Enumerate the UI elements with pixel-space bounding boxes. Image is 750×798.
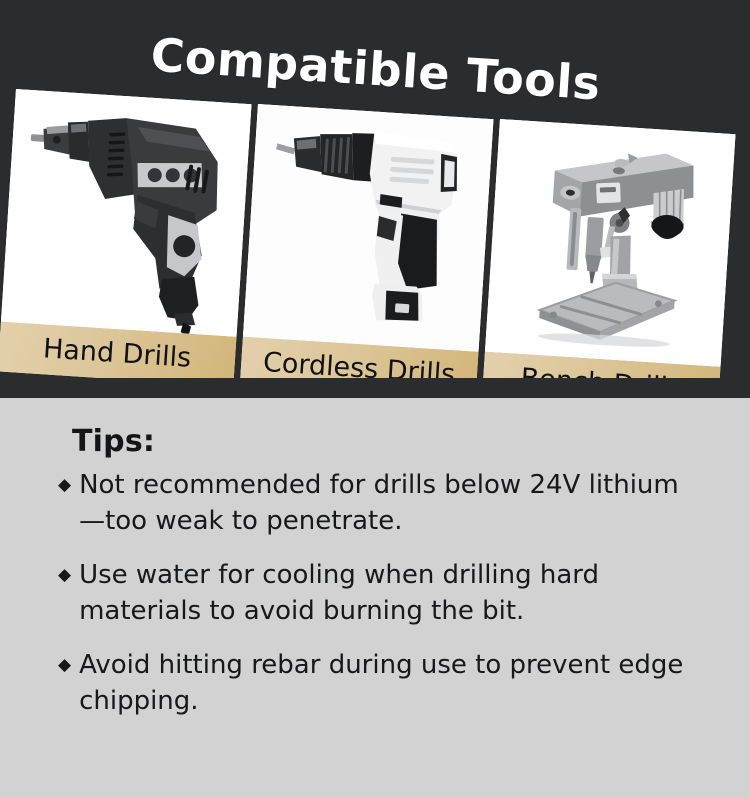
list-item: ◆ Avoid hitting rebar during use to prev…	[72, 647, 698, 719]
tips-heading: Tips:	[72, 424, 698, 459]
tool-card[interactable]: Cordless Drills	[240, 104, 494, 402]
compatible-tools-infographic: Compatible Tools	[0, 0, 750, 798]
tool-card-row: Hand Drills	[0, 0, 750, 398]
list-item: ◆ Not recommended for drills below 24V l…	[72, 467, 698, 539]
tip-text: Avoid hitting rebar during use to preven…	[79, 647, 689, 719]
tool-card[interactable]: Hand Drills	[0, 89, 252, 387]
bench-drill-press-photo	[485, 119, 736, 367]
hero-bottom-mask	[0, 378, 750, 398]
corded-hand-drill-photo	[1, 89, 252, 337]
tip-text: Use water for cooling when drilling hard…	[79, 557, 689, 629]
tips-section: Tips: ◆ Not recommended for drills below…	[0, 398, 750, 798]
list-item: ◆ Use water for cooling when drilling ha…	[72, 557, 698, 629]
tip-text: Not recommended for drills below 24V lit…	[79, 467, 689, 539]
diamond-bullet-icon: ◆	[58, 467, 71, 503]
tool-card[interactable]: Bench Drills	[482, 119, 736, 417]
diamond-bullet-icon: ◆	[58, 647, 71, 683]
cordless-drill-photo	[243, 104, 494, 352]
diamond-bullet-icon: ◆	[58, 557, 71, 593]
